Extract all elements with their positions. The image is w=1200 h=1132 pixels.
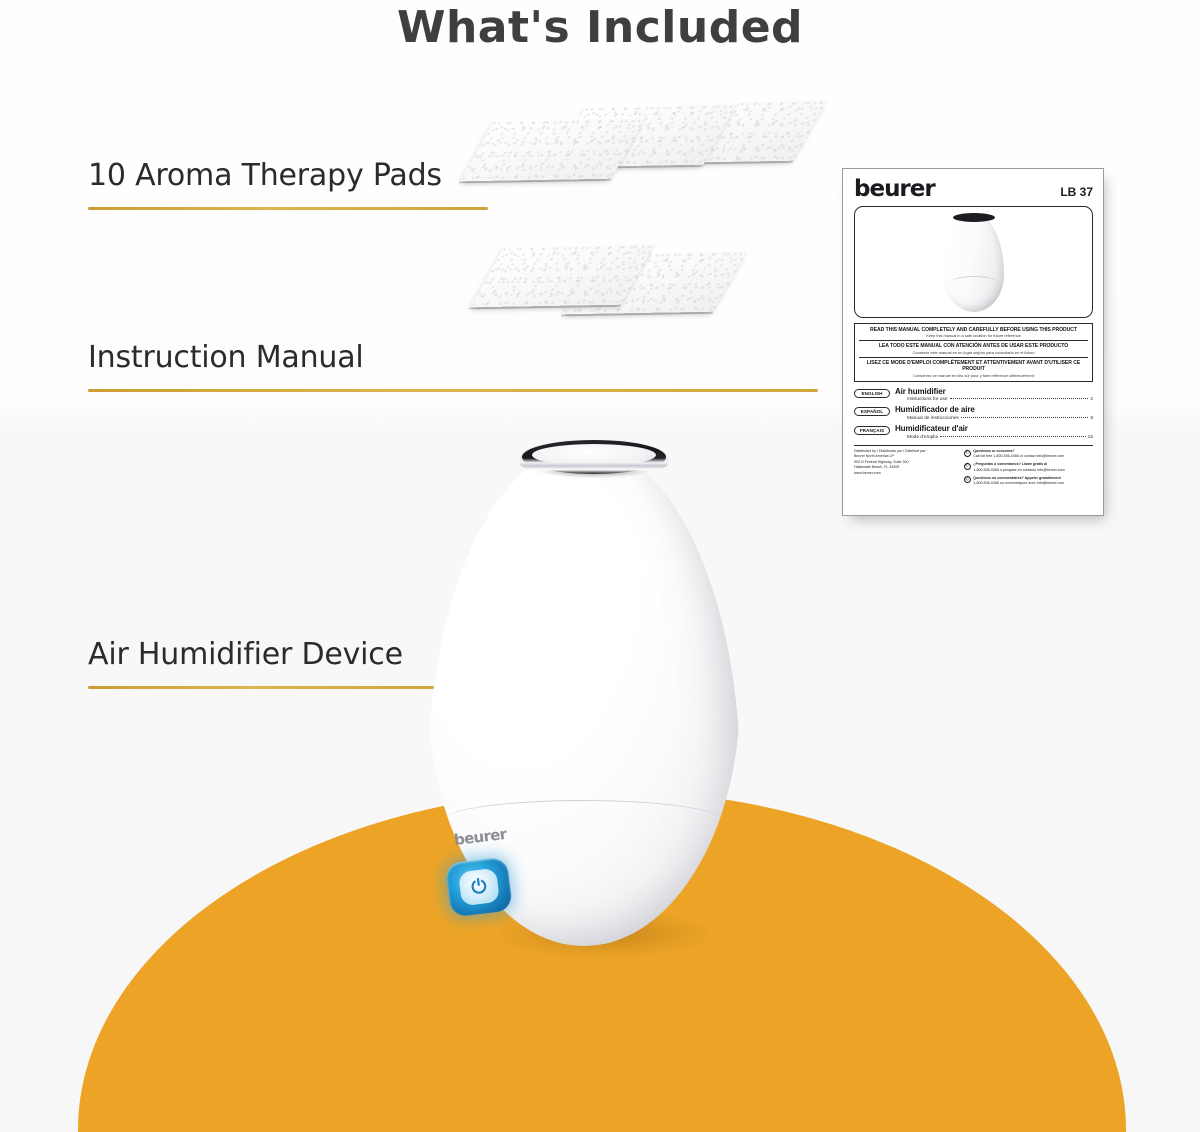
callout-underline-instruction-manual xyxy=(88,389,818,392)
leader-dots xyxy=(961,417,1089,418)
manual-device-illustration xyxy=(944,214,1004,312)
contact-heading: Questions or concerns? xyxy=(973,449,1014,453)
contact-detail: 1-800-536-0366 o póngase en contacto inf… xyxy=(973,468,1064,472)
manual-language-index: ENGLISH Air humidifier Instructions for … xyxy=(854,388,1093,440)
language-entry: FRANÇAIS Humidificateur d'air Mode d'emp… xyxy=(854,425,1093,440)
warning-divider xyxy=(859,357,1088,358)
contact-detail: 1-800-536-0366 ou communiquez avec info@… xyxy=(973,481,1064,485)
language-subtitle: Mode d'emploi xyxy=(907,435,938,440)
power-button[interactable]: ⏻ xyxy=(445,856,513,917)
phone-icon xyxy=(964,463,971,470)
language-entry: ENGLISH Air humidifier Instructions for … xyxy=(854,388,1093,403)
language-page-number: 8 xyxy=(1090,416,1093,421)
language-subtitle: Manual de instrucciones xyxy=(907,416,959,421)
aroma-pad xyxy=(460,117,646,182)
warning-spanish-main: LEA TODO ESTE MANUAL CON ATENCIÓN ANTES … xyxy=(859,343,1088,349)
leader-dots xyxy=(940,436,1086,437)
language-tag: FRANÇAIS xyxy=(854,426,890,435)
warning-english-sub: Keep this manual in a safe location for … xyxy=(859,333,1088,338)
language-tag: ENGLISH xyxy=(854,389,890,398)
language-page-number: 15 xyxy=(1088,435,1093,440)
whats-included-infographic: What's Included 10 Aroma Therapy Pads In… xyxy=(0,0,1200,1132)
contact-list: Questions or concerns? Call toll free 1-… xyxy=(964,449,1093,489)
callout-air-humidifier-device: Air Humidifier Device xyxy=(88,637,448,689)
manual-warning-box: READ THIS MANUAL COMPLETELY AND CAREFULL… xyxy=(854,323,1093,382)
air-humidifier-device: beurer ⏻ xyxy=(420,432,750,952)
language-page-number: 2 xyxy=(1090,397,1093,402)
warning-french-sub: Conservez ce manuel en lieu sûr pour y f… xyxy=(859,373,1088,378)
language-entry: ESPAÑOL Humidificador de aire Manual de … xyxy=(854,406,1093,421)
callout-underline-air-humidifier-device xyxy=(88,686,448,689)
manual-brand-logo: beurer xyxy=(854,178,935,201)
callout-underline-aroma-pads xyxy=(88,207,488,210)
contact-heading: ¿Preguntas o comentarios? Llame gratis a… xyxy=(973,462,1047,466)
callout-label-aroma-pads: 10 Aroma Therapy Pads xyxy=(88,158,488,193)
language-tag: ESPAÑOL xyxy=(854,407,890,416)
contact-row: Questions or concerns? Call toll free 1-… xyxy=(964,449,1093,459)
warning-spanish-sub: Conserve este manual en un lugar seguro … xyxy=(859,350,1088,355)
language-title: Air humidifier xyxy=(895,388,1093,397)
power-icon: ⏻ xyxy=(470,877,487,898)
phone-icon xyxy=(964,476,971,483)
warning-divider xyxy=(859,340,1088,341)
leader-dots xyxy=(950,398,1089,399)
warning-french-main: LISEZ CE MODE D'EMPLOI COMPLÈTEMENT ET A… xyxy=(859,360,1088,373)
manual-cover-photo xyxy=(854,206,1093,318)
contact-detail: Call toll free 1-800-536-0366 or contact… xyxy=(973,454,1064,458)
callout-aroma-pads: 10 Aroma Therapy Pads xyxy=(88,158,488,210)
device-chrome-ring xyxy=(519,446,669,478)
aroma-therapy-pads-group xyxy=(470,96,830,364)
contact-heading: Questions ou commentaires? Appeler gratu… xyxy=(973,476,1061,480)
language-title: Humidificateur d'air xyxy=(895,425,1093,434)
distributor-address: Distributed by / Distribuido por / Distr… xyxy=(854,449,957,489)
language-subtitle: Instructions for use xyxy=(907,397,948,402)
language-title: Humidificador de aire xyxy=(895,406,1093,415)
manual-footer: Distributed by / Distribuido por / Distr… xyxy=(854,445,1093,489)
callout-label-air-humidifier-device: Air Humidifier Device xyxy=(88,637,448,672)
manual-header: beurer LB 37 xyxy=(854,178,1093,201)
power-button-ring: ⏻ xyxy=(458,868,500,906)
instruction-manual-booklet: beurer LB 37 READ THIS MANUAL COMPLETELY… xyxy=(842,168,1104,516)
phone-icon xyxy=(964,450,971,457)
contact-row: ¿Preguntas o comentarios? Llame gratis a… xyxy=(964,462,1093,472)
page-title: What's Included xyxy=(0,2,1200,53)
manual-model-number: LB 37 xyxy=(1060,185,1093,201)
contact-row: Questions ou commentaires? Appeler gratu… xyxy=(964,476,1093,486)
